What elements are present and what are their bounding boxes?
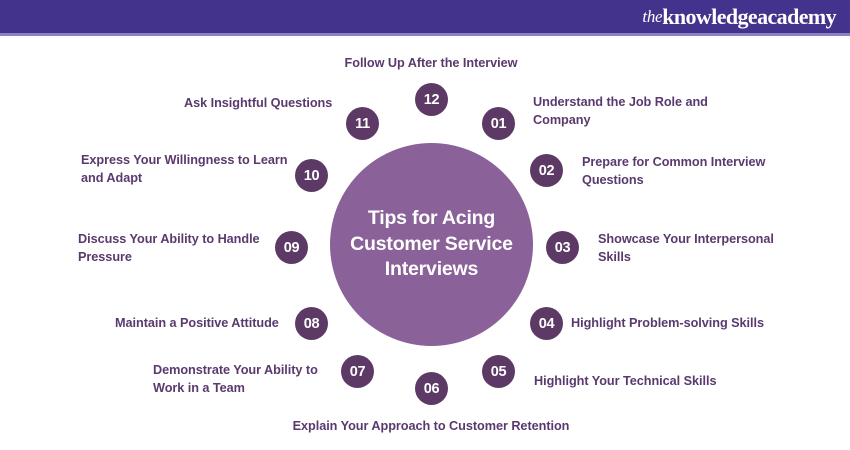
tip-label-05: Highlight Your Technical Skills [534,372,784,390]
tip-label-11: Ask Insightful Questions [184,94,342,112]
tip-badge-11[interactable]: 11 [346,107,379,140]
brand-logo: theknowledgeacademy [642,0,836,33]
tip-badge-03[interactable]: 03 [546,231,579,264]
brand-logo-prefix: the [642,7,662,27]
tip-label-07: Demonstrate Your Ability to Work in a Te… [153,361,333,398]
tip-badge-06[interactable]: 06 [415,372,448,405]
tip-badge-02[interactable]: 02 [530,154,563,187]
tip-label-02: Prepare for Common Interview Questions [582,153,832,190]
tip-badge-08[interactable]: 08 [295,307,328,340]
tip-label-10: Express Your Willingness to Learn and Ad… [81,151,291,188]
tip-label-03: Showcase Your Interpersonal Skills [598,230,838,267]
tip-badge-07[interactable]: 07 [341,355,374,388]
center-hub-title: Tips for Acing Customer Service Intervie… [330,206,533,284]
tip-label-01: Understand the Job Role and Company [533,93,773,130]
tip-label-12: Follow Up After the Interview [245,54,617,72]
tip-label-08: Maintain a Positive Attitude [115,314,290,332]
tip-label-09: Discuss Your Ability to Handle Pressure [78,230,270,267]
tip-badge-05[interactable]: 05 [482,355,515,388]
tip-label-04: Highlight Problem-solving Skills [571,314,821,332]
center-hub: Tips for Acing Customer Service Intervie… [330,143,533,346]
brand-logo-name: knowledgeacademy [662,4,836,30]
tip-badge-01[interactable]: 01 [482,107,515,140]
tip-badge-10[interactable]: 10 [295,159,328,192]
tip-badge-12[interactable]: 12 [415,83,448,116]
tip-badge-04[interactable]: 04 [530,307,563,340]
tip-label-06: Explain Your Approach to Customer Retent… [231,417,631,435]
infographic-canvas: Tips for Acing Customer Service Intervie… [0,36,850,450]
tip-badge-09[interactable]: 09 [275,231,308,264]
